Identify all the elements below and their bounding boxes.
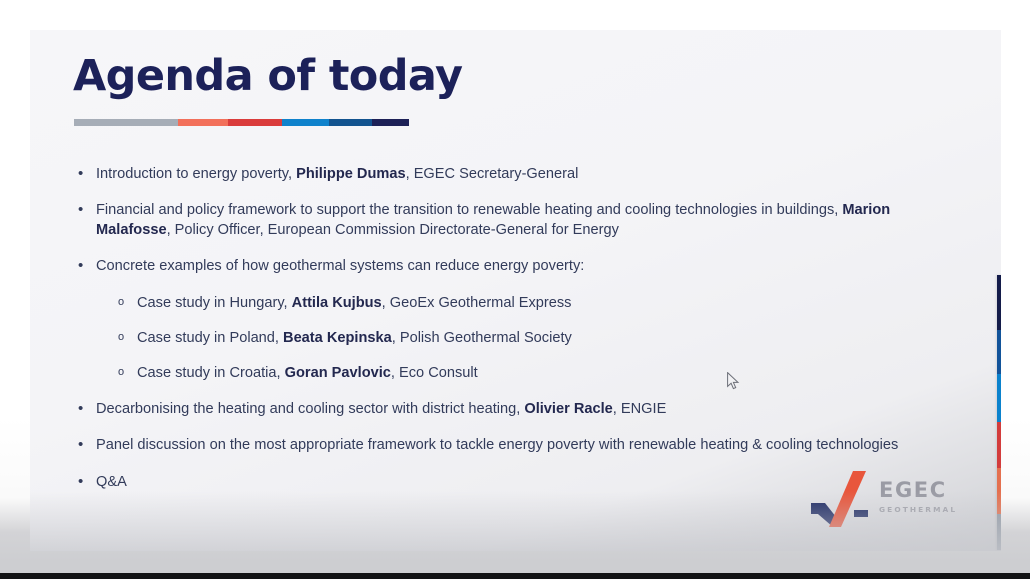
agenda-bullet: •Decarbonising the heating and cooling s… — [74, 400, 964, 419]
title-underline-rule — [74, 119, 409, 126]
accent-segment-2 — [997, 330, 1001, 374]
rule-segment-3 — [228, 119, 282, 126]
agenda-bullet-text: Decarbonising the heating and cooling se… — [96, 401, 666, 417]
bullet-marker-icon: • — [78, 435, 83, 455]
presentation-viewer: Agenda of today •Introduction to energy … — [0, 0, 1030, 579]
agenda-bullet-text: Case study in Poland, Beata Kepinska, Po… — [137, 330, 572, 346]
agenda-sub-bullet: oCase study in Croatia, Goran Pavlovic, … — [74, 364, 964, 383]
rule-segment-6 — [372, 119, 409, 126]
accent-segment-5 — [997, 468, 1001, 514]
page-title: Agenda of today — [73, 53, 462, 100]
sub-bullet-marker-icon: o — [118, 330, 124, 345]
speaker-name: Goran Pavlovic — [285, 365, 391, 381]
egec-geothermal-logo: EGEC GEOTHERMAL — [807, 470, 947, 528]
viewer-bottom-edge — [0, 573, 1030, 579]
bullet-marker-icon: • — [78, 399, 83, 419]
bullet-marker-icon: • — [78, 472, 83, 492]
egec-tagline-text: GEOTHERMAL — [879, 506, 949, 513]
bullet-marker-icon: • — [78, 256, 83, 276]
rule-segment-2 — [178, 119, 228, 126]
slide-accent-bar — [997, 275, 1001, 550]
speaker-name: Philippe Dumas — [296, 166, 405, 182]
sub-bullet-marker-icon: o — [118, 295, 124, 310]
agenda-bullet: •Panel discussion on the most appropriat… — [74, 436, 964, 455]
agenda-bullet-text: Concrete examples of how geothermal syst… — [96, 258, 584, 274]
agenda-bullet: •Introduction to energy poverty, Philipp… — [74, 165, 964, 184]
accent-segment-4 — [997, 422, 1001, 468]
sub-bullet-marker-icon: o — [118, 365, 124, 380]
agenda-bullet-text: Financial and policy framework to suppor… — [96, 202, 890, 237]
bullet-marker-icon: • — [78, 164, 83, 184]
speaker-name: Olivier Racle — [524, 401, 612, 417]
agenda-bullet: •Financial and policy framework to suppo… — [74, 201, 964, 240]
egec-brand-text: EGEC — [879, 480, 949, 501]
egec-wordmark: EGEC GEOTHERMAL — [879, 480, 949, 513]
agenda-bullet: •Concrete examples of how geothermal sys… — [74, 257, 964, 276]
agenda-bullet-list: •Introduction to energy poverty, Philipp… — [74, 165, 964, 509]
rule-segment-4 — [282, 119, 329, 126]
accent-segment-3 — [997, 374, 1001, 422]
agenda-bullet-text: Q&A — [96, 474, 127, 490]
egec-checkmark-icon — [807, 470, 871, 528]
rule-segment-1 — [74, 119, 178, 126]
accent-segment-1 — [997, 275, 1001, 330]
slide-canvas[interactable]: Agenda of today •Introduction to energy … — [30, 30, 1001, 551]
agenda-sub-bullet: oCase study in Hungary, Attila Kujbus, G… — [74, 294, 964, 313]
speaker-name: Beata Kepinska — [283, 330, 392, 346]
agenda-bullet-text: Case study in Croatia, Goran Pavlovic, E… — [137, 365, 478, 381]
speaker-name: Attila Kujbus — [292, 295, 382, 311]
agenda-bullet-text: Case study in Hungary, Attila Kujbus, Ge… — [137, 295, 571, 311]
agenda-bullet-text: Panel discussion on the most appropriate… — [96, 437, 898, 453]
rule-segment-5 — [329, 119, 373, 126]
bullet-marker-icon: • — [78, 200, 83, 220]
agenda-sub-bullet: oCase study in Poland, Beata Kepinska, P… — [74, 329, 964, 348]
agenda-bullet-text: Introduction to energy poverty, Philippe… — [96, 166, 578, 182]
accent-segment-6 — [997, 514, 1001, 550]
